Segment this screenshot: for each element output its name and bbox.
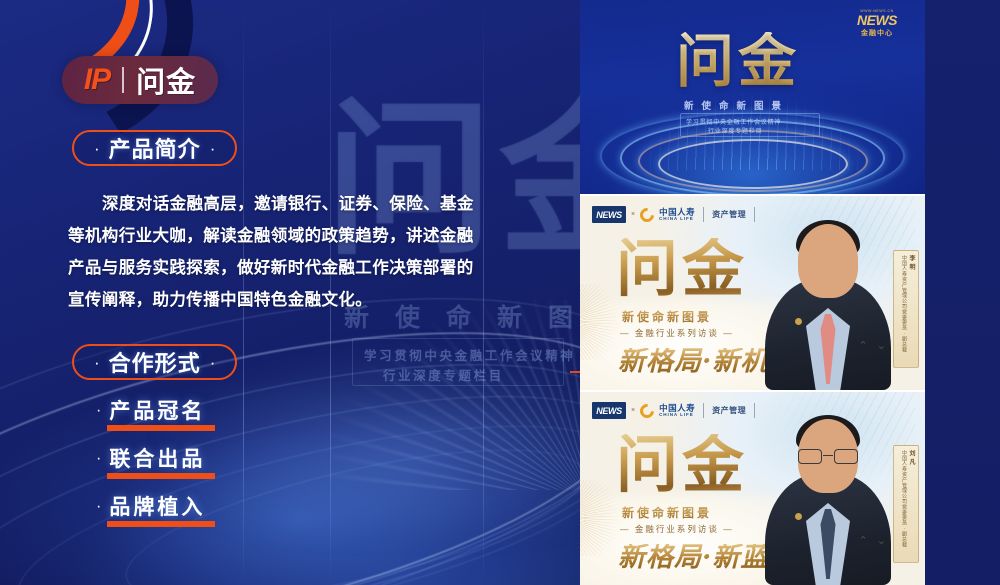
logo-separator: × bbox=[631, 211, 635, 218]
card-column: 问金 新使命新图景 学习贯彻中央金融工作会议精神 行业深度专题栏目 WWW.NE… bbox=[580, 0, 925, 585]
guest-role: 中国人寿资产管理公司党委委员 · 副总裁 bbox=[900, 450, 907, 547]
list-item-bullet: · bbox=[96, 494, 101, 520]
pill-dot-left: · bbox=[94, 354, 100, 371]
logo-mark: NEWS bbox=[857, 13, 897, 27]
card-title: 问金 bbox=[676, 32, 800, 90]
list-item-label: 产品冠名 bbox=[109, 398, 205, 424]
list-item: · 产品冠名 bbox=[96, 398, 336, 446]
pill-dot-right: · bbox=[210, 354, 216, 371]
list-item-bullet: · bbox=[96, 446, 101, 472]
right-edge-fill bbox=[925, 0, 1000, 585]
cooperation-list: · 产品冠名 · 联合出品 · 品牌植入 bbox=[96, 398, 336, 542]
partner-name-en: CHINA LIFE bbox=[659, 413, 695, 418]
section-header-cooperation-label: 合作形式 bbox=[109, 346, 201, 378]
list-item-bullet: · bbox=[96, 398, 101, 424]
guest-name: 刘 凡 bbox=[907, 450, 916, 465]
card-subtitle: 新使命新图景 bbox=[622, 504, 712, 521]
china-life-wordmark: 中国人寿 CHINA LIFE bbox=[659, 208, 695, 222]
card-subtitle: 新使命新图景 bbox=[622, 308, 712, 325]
video-card-stage[interactable]: 问金 新使命新图景 学习贯彻中央金融工作会议精神 行业深度专题栏目 WWW.NE… bbox=[580, 0, 925, 194]
card-caption-line2: 行业深度专题栏目 bbox=[708, 126, 762, 135]
video-card-interview-1[interactable]: NEWS × 中国人寿 CHINA LIFE 资产管理 问金 新使命新图景 — … bbox=[580, 196, 925, 390]
china-life-logo-icon bbox=[637, 401, 657, 421]
china-life-logo-icon bbox=[637, 205, 657, 225]
partner-name-en: CHINA LIFE bbox=[659, 217, 695, 222]
guest-role: 中国人寿资产管理公司党委委员 · 副总裁 bbox=[900, 255, 907, 352]
portrait-lapel-pin bbox=[795, 513, 802, 520]
decor-birds-icon: ⌃ ⌄ bbox=[859, 534, 890, 547]
partner-logo-bar: NEWS × 中国人寿 CHINA LIFE 资产管理 bbox=[592, 206, 755, 223]
logo-separator: × bbox=[631, 407, 635, 414]
card-series-label: — 金融行业系列访谈 — bbox=[620, 523, 734, 535]
partner-unit-label: 资产管理 bbox=[712, 209, 746, 220]
list-item-label: 联合出品 bbox=[109, 446, 205, 472]
list-item-label: 品牌植入 bbox=[109, 494, 205, 520]
guest-name-plaque: 刘 凡 中国人寿资产管理公司党委委员 · 副总裁 bbox=[893, 445, 919, 563]
logo-unit: 金融中心 bbox=[861, 28, 893, 38]
decor-birds-icon: ⌃ ⌄ bbox=[859, 339, 890, 352]
section-header-intro: · 产品简介 · bbox=[72, 130, 237, 166]
guest-name: 李 明 bbox=[907, 255, 916, 270]
xinhua-news-logo-icon: WWW.NEWS.CN NEWS 金融中心 bbox=[857, 9, 897, 38]
section-header-intro-label: 产品简介 bbox=[109, 132, 201, 164]
ip-badge: IP 问金 bbox=[62, 56, 218, 104]
xinhua-news-logo-icon: NEWS bbox=[592, 402, 626, 419]
stage-ring bbox=[658, 139, 848, 189]
pill-dot-left: · bbox=[94, 140, 100, 157]
list-item: · 品牌植入 bbox=[96, 494, 336, 542]
portrait-lapel-pin bbox=[795, 318, 802, 325]
intro-paragraph: 深度对话金融高层，邀请银行、证券、保险、基金等机构行业大咖，解读金融领域的政策趋… bbox=[68, 188, 474, 316]
guest-portrait bbox=[759, 405, 897, 585]
china-life-wordmark: 中国人寿 CHINA LIFE bbox=[659, 404, 695, 418]
section-header-cooperation: · 合作形式 · bbox=[72, 344, 237, 380]
card-series-label: — 金融行业系列访谈 — bbox=[620, 327, 734, 339]
card-caption-line1: 学习贯彻中央金融工作会议精神 bbox=[686, 117, 781, 126]
ip-badge-ip-label: IP bbox=[84, 63, 110, 97]
guest-portrait bbox=[759, 210, 897, 390]
background-watermark-caption-line2: 行业深度专题栏目 bbox=[383, 365, 504, 384]
ip-badge-program-name: 问金 bbox=[136, 59, 196, 101]
video-card-interview-2[interactable]: NEWS × 中国人寿 CHINA LIFE 资产管理 问金 新使命新图景 — … bbox=[580, 392, 925, 585]
partner-unit-label: 资产管理 bbox=[712, 405, 746, 416]
xinhua-news-logo-icon: NEWS bbox=[592, 206, 626, 223]
ip-badge-divider bbox=[122, 67, 124, 93]
logo-divider bbox=[703, 403, 704, 418]
card-title: 问金 bbox=[616, 238, 748, 300]
partner-logo-bar: NEWS × 中国人寿 CHINA LIFE 资产管理 bbox=[592, 402, 755, 419]
logo-divider bbox=[754, 403, 755, 418]
card-subtitle: 新使命新图景 bbox=[684, 98, 789, 112]
logo-divider bbox=[754, 207, 755, 222]
portrait-face bbox=[798, 224, 858, 298]
poster-root: 问金 新使命新图景 学习贯彻中央金融工作会议精神 行业深度专题栏目 IP 问金 … bbox=[0, 0, 1000, 585]
guest-name-plaque: 李 明 中国人寿资产管理公司党委委员 · 副总裁 bbox=[893, 250, 919, 368]
card-title: 问金 bbox=[616, 434, 748, 496]
logo-divider bbox=[703, 207, 704, 222]
list-item: · 联合出品 bbox=[96, 446, 336, 494]
portrait-glasses-icon bbox=[797, 449, 859, 465]
pill-dot-right: · bbox=[210, 140, 216, 157]
